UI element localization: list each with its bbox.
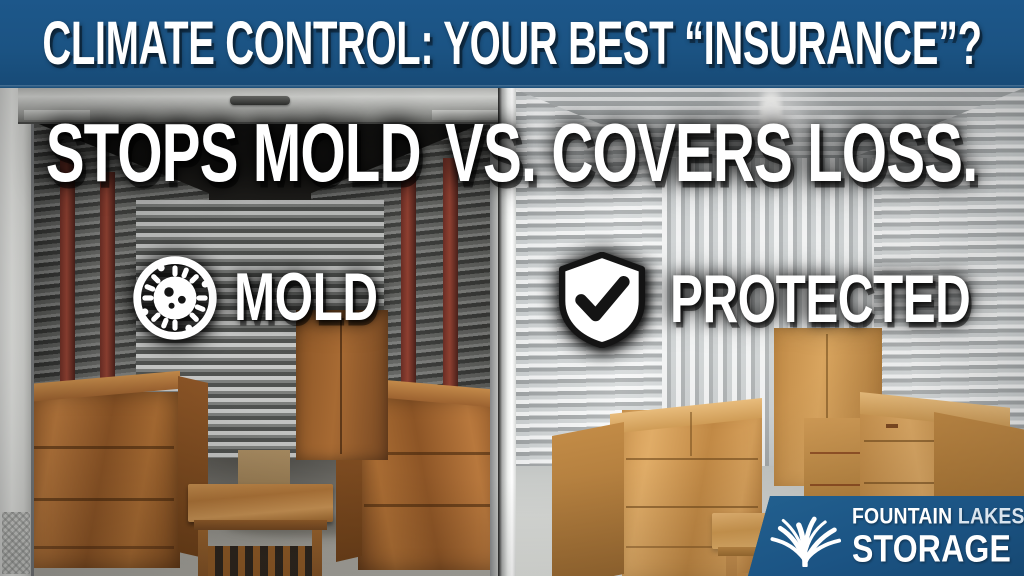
panel-divider [498,88,516,576]
thumbnail-canvas: CLIMATE CONTROL: YOUR BEST “INSURANCE”? [0,0,1024,576]
mold-germ-no-symbol-icon [132,255,218,341]
shield-check-icon [556,252,648,348]
header-title: CLIMATE CONTROL: YOUR BEST “INSURANCE”? [42,13,981,75]
door-rail [432,110,498,120]
badge-mold-label: MOLD [234,264,378,332]
door-rail [24,110,90,120]
badge-protected: PROTECTED [556,252,986,348]
fountain-spray-icon [766,505,844,567]
left-door-jamb [0,88,34,576]
logo-line2: STORAGE [852,530,1024,568]
coffee-table [188,484,333,576]
door-handle[interactable] [230,96,290,105]
roll-up-door-header [18,88,502,124]
left-dresser [28,376,208,576]
badge-mold: MOLD [132,255,385,341]
logo-line1-secondary: LAKES [958,505,1024,530]
brand-logo[interactable]: FOUNTAIN LAKES STORAGE [748,496,1024,576]
ceiling-light-icon [759,88,783,134]
logo-line1-primary: FOUNTAIN [852,505,952,530]
header-bar: CLIMATE CONTROL: YOUR BEST “INSURANCE”? [0,0,1024,88]
diamond-plate-kick [2,512,30,574]
badge-protected-label: PROTECTED [670,266,970,334]
